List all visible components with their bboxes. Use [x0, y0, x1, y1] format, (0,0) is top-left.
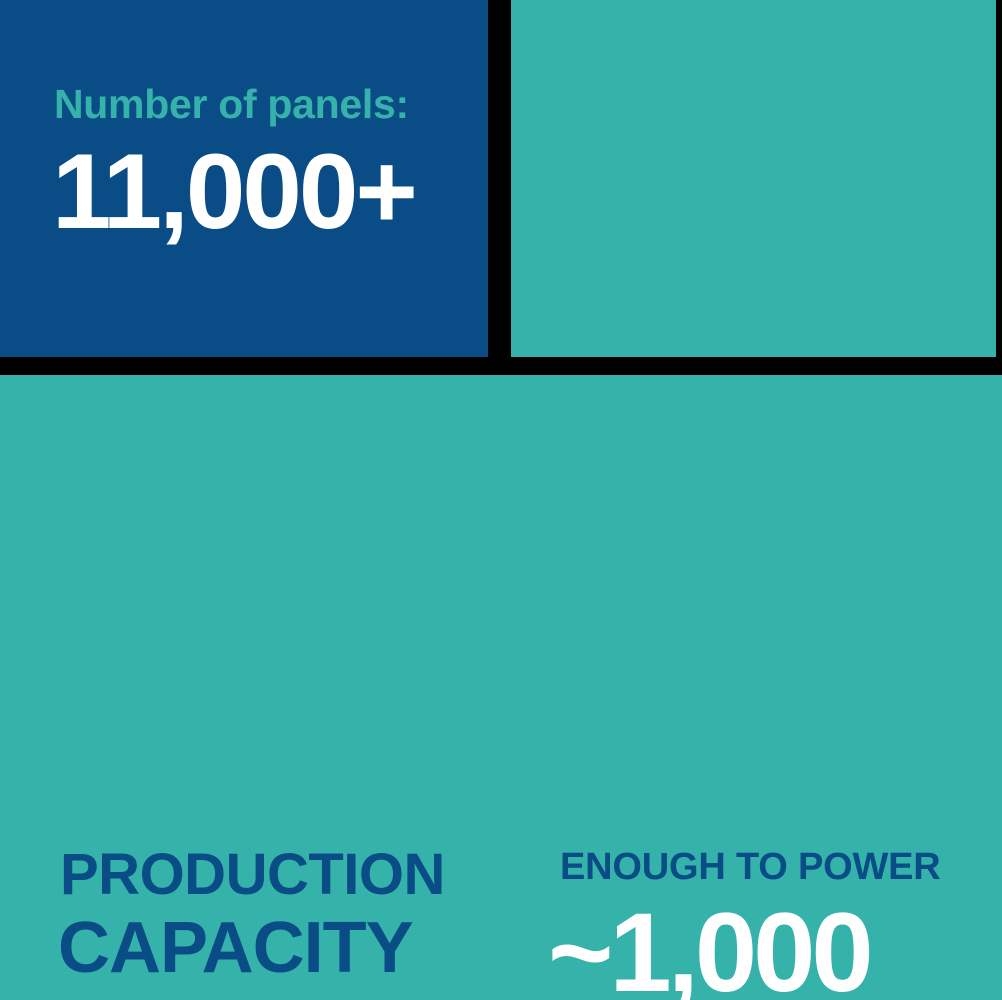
- panel-number-of-panels: Number of panels: 11,000+: [0, 0, 488, 357]
- production-capacity-heading-line2: CAPACITY: [58, 912, 413, 984]
- homes-powered-caption: ENOUGH TO POWER: [560, 848, 941, 886]
- number-of-panels-caption: Number of panels:: [54, 84, 409, 125]
- homes-powered-value: ~1,000: [548, 897, 870, 1000]
- number-of-panels-value: 11,000+: [52, 138, 415, 245]
- infographic-canvas: Number of panels: 11,000+ ROOF SURFACE C…: [0, 0, 1002, 1000]
- production-capacity-heading-line1: PRODUCTION: [60, 846, 445, 904]
- panel-roof-surface-covered: ROOF SURFACE COVERED: 25,000+ sqm: [511, 0, 996, 357]
- panel-production-and-homes: PRODUCTION CAPACITY 5MWp ENOUGH TO POWER…: [0, 375, 1002, 1000]
